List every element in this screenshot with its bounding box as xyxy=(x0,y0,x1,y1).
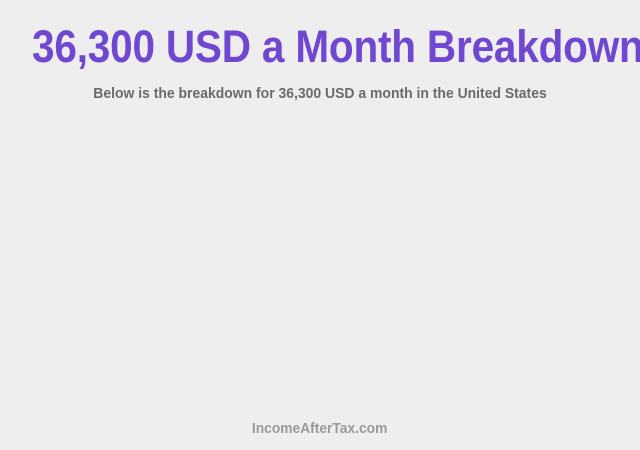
footer-watermark: IncomeAfterTax.com xyxy=(252,420,387,438)
content-area xyxy=(0,112,640,412)
page-footer: IncomeAfterTax.com xyxy=(0,420,640,438)
page-root: 36,300 USD a Month Breakdown Below is th… xyxy=(0,0,640,450)
page-subtitle: Below is the breakdown for 36,300 USD a … xyxy=(22,85,617,103)
page-title: 36,300 USD a Month Breakdown xyxy=(32,22,608,72)
